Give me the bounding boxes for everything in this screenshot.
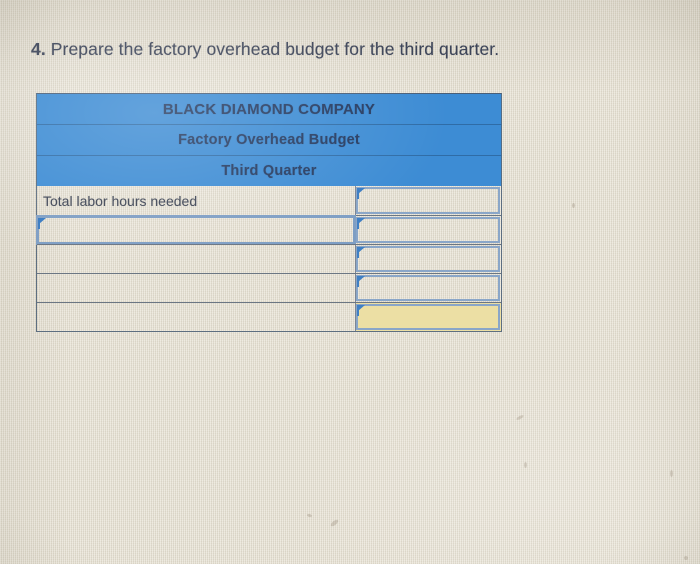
row-0-value-cell[interactable] [356, 186, 501, 215]
worksheet-title-company-label: BLACK DIAMOND COMPANY [163, 101, 375, 118]
table-row [37, 302, 501, 331]
input-marker-icon [358, 247, 365, 259]
row-3-label-cell[interactable] [37, 274, 356, 302]
input-marker-icon [39, 218, 46, 230]
row-0-label-text: Total labor hours needed [43, 193, 197, 209]
table-row [37, 244, 501, 273]
input-marker-icon [358, 188, 365, 200]
worksheet-title-company: BLACK DIAMOND COMPANY [36, 93, 502, 124]
worksheet-body: Total labor hours needed [36, 186, 502, 332]
table-row [37, 273, 501, 302]
input-marker-icon [358, 305, 365, 317]
row-0-label-cell[interactable]: Total labor hours needed [37, 186, 356, 215]
worksheet-title-period: Third Quarter [36, 155, 502, 186]
factory-overhead-budget-worksheet: BLACK DIAMOND COMPANY Factory Overhead B… [36, 93, 502, 332]
question-number: 4. [31, 39, 46, 59]
row-1-label-cell[interactable] [37, 216, 356, 244]
row-2-label-cell[interactable] [37, 245, 356, 273]
table-row [37, 215, 501, 244]
row-4-value-cell[interactable] [356, 303, 501, 331]
worksheet-title-budget: Factory Overhead Budget [36, 124, 502, 155]
worksheet-title-budget-label: Factory Overhead Budget [178, 132, 360, 148]
row-1-value-cell[interactable] [356, 216, 501, 244]
question-prompt: Prepare the factory overhead budget for … [51, 39, 499, 59]
table-row: Total labor hours needed [37, 186, 501, 215]
row-3-value-cell[interactable] [356, 274, 501, 302]
row-4-label-cell[interactable] [37, 303, 356, 331]
input-marker-icon [358, 218, 365, 230]
input-marker-icon [358, 276, 365, 288]
worksheet-title-period-label: Third Quarter [221, 163, 316, 179]
question-heading: 4. Prepare the factory overhead budget f… [31, 39, 499, 60]
row-2-value-cell[interactable] [356, 245, 501, 273]
